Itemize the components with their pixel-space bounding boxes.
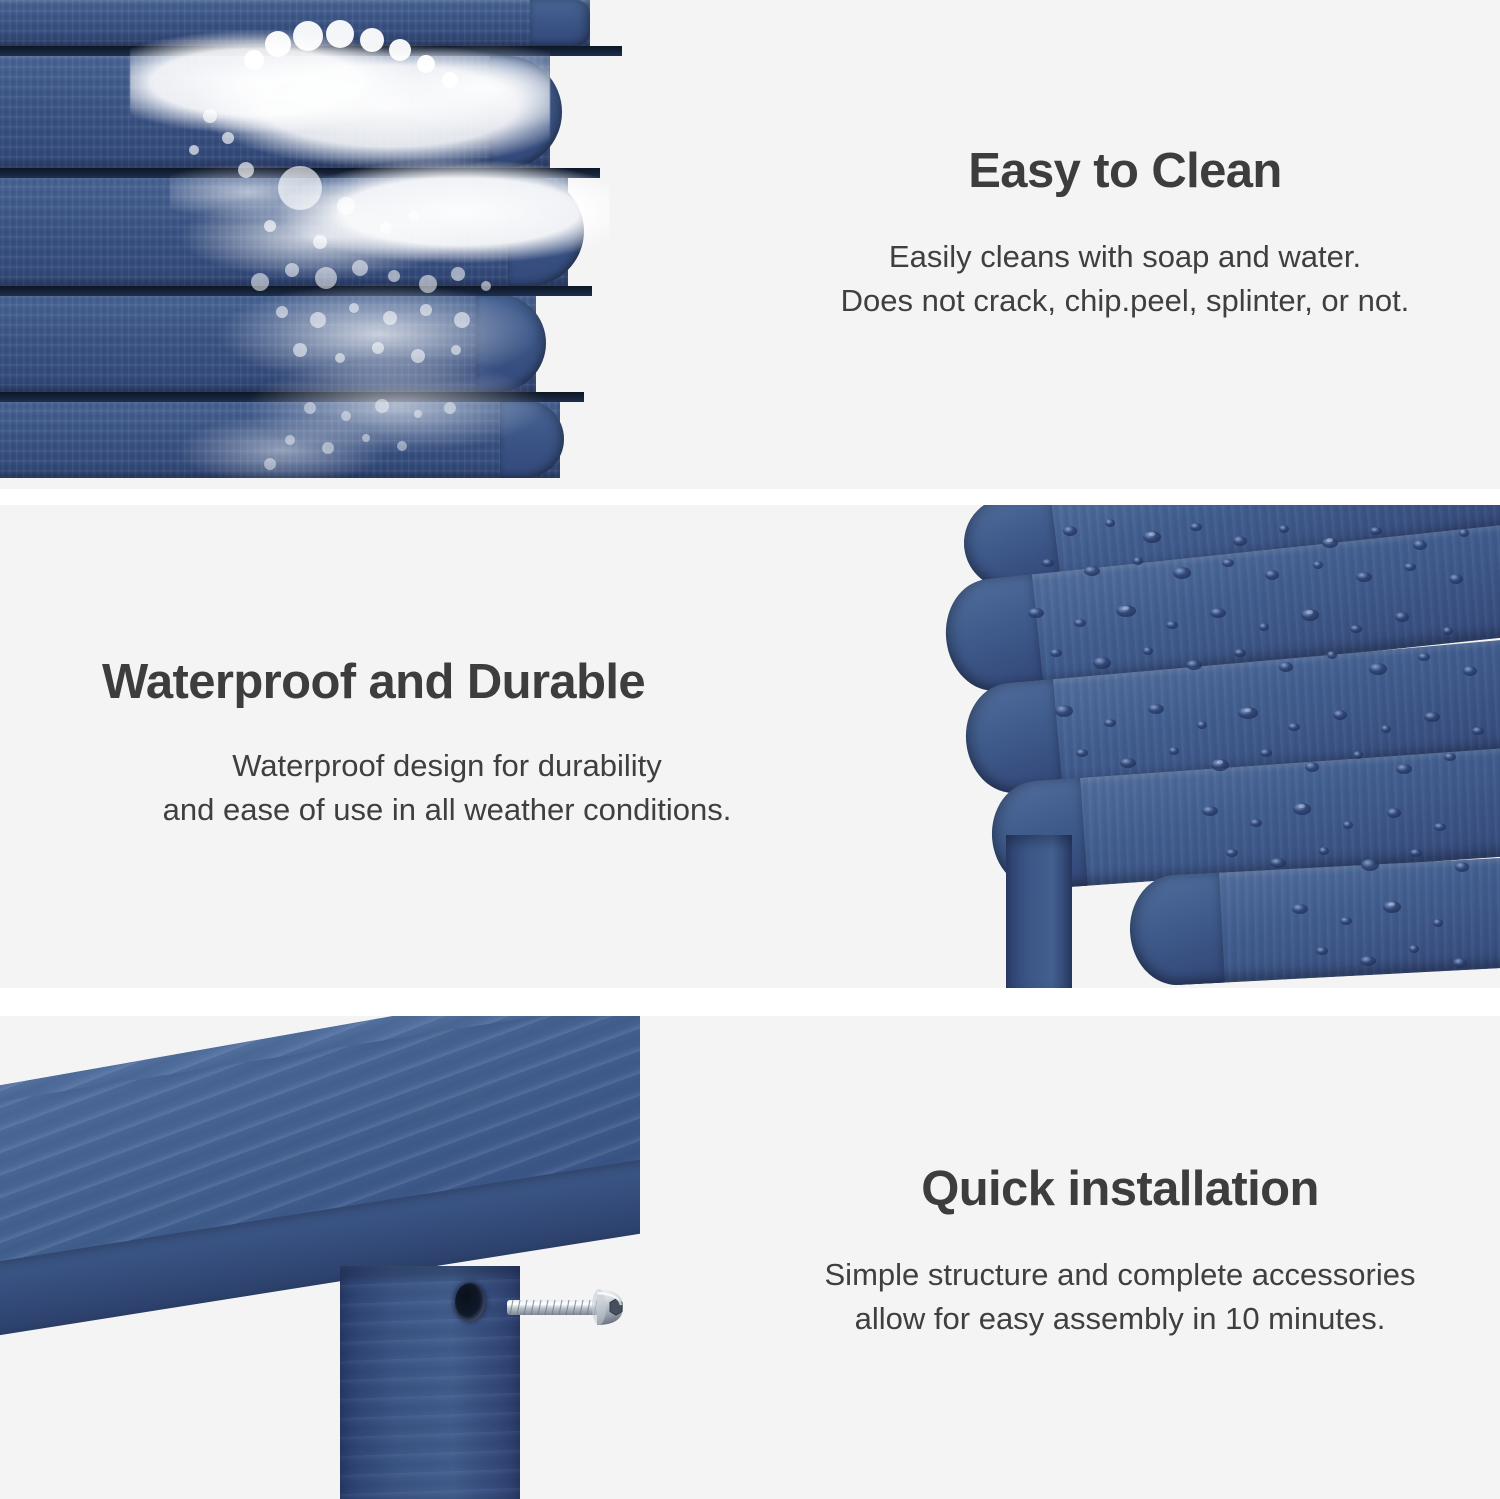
slat-rounded-end [500,400,564,478]
slat-gap [0,286,592,296]
slat-gap [0,168,600,178]
chair-leg [340,1266,520,1499]
feature-copy-waterproof-and-durable: Waterproof and Durable Waterproof design… [80,657,870,832]
panel-heading: Quick installation [740,1164,1500,1215]
chair-slat [0,56,550,168]
wet-blue-slats-with-water-droplets-image [860,505,1500,988]
panel-body-line: Does not crack, chip.peel, splinter, or … [750,279,1500,323]
panel-heading: Waterproof and Durable [80,657,870,708]
hex-socket-bolt-icon [505,1281,637,1333]
panel-body-line: Waterproof design for durability [80,744,814,788]
slat-rounded-end [508,176,584,286]
chair-seat-edge-with-screw-image [0,1016,740,1499]
panel-body-line: and ease of use in all weather condition… [80,788,814,832]
slat-rounded-end [476,294,546,392]
feature-copy-easy-to-clean: Easy to Clean Easily cleans with soap an… [750,146,1500,323]
slat-rounded-end [530,0,590,46]
feature-panel-quick-installation: Quick installation Simple structure and … [0,1016,1500,1499]
feature-panel-waterproof-and-durable: Waterproof and Durable Waterproof design… [0,505,1500,988]
panel-body: Simple structure and complete accessorie… [740,1253,1500,1341]
chair-leg [1006,835,1072,988]
slat-gap [0,392,584,402]
chair-slat [0,176,568,286]
panel-body-line: allow for easy assembly in 10 minutes. [740,1297,1500,1341]
blue-slats-with-soap-foam-image [0,0,680,489]
slat-rounded-end [490,56,562,168]
product-feature-infographic: Easy to Clean Easily cleans with soap an… [0,0,1500,1499]
slat-rounded-end [940,574,1043,695]
chair-slat [0,0,590,46]
panel-heading: Easy to Clean [750,146,1500,197]
panel-body: Waterproof design for durability and eas… [80,744,870,832]
panel-body-line: Simple structure and complete accessorie… [740,1253,1500,1297]
feature-copy-quick-installation: Quick installation Simple structure and … [740,1164,1500,1341]
panel-body-line: Easily cleans with soap and water. [750,235,1500,279]
chair-slat [0,294,536,392]
pre-drilled-screw-hole [455,1283,485,1321]
feature-panel-easy-to-clean: Easy to Clean Easily cleans with soap an… [0,0,1500,489]
panel-body: Easily cleans with soap and water. Does … [750,235,1500,323]
chair-slat [0,400,560,478]
slat-rounded-end [1127,873,1225,988]
chair-slat [1173,856,1500,985]
slat-gap [0,46,622,56]
